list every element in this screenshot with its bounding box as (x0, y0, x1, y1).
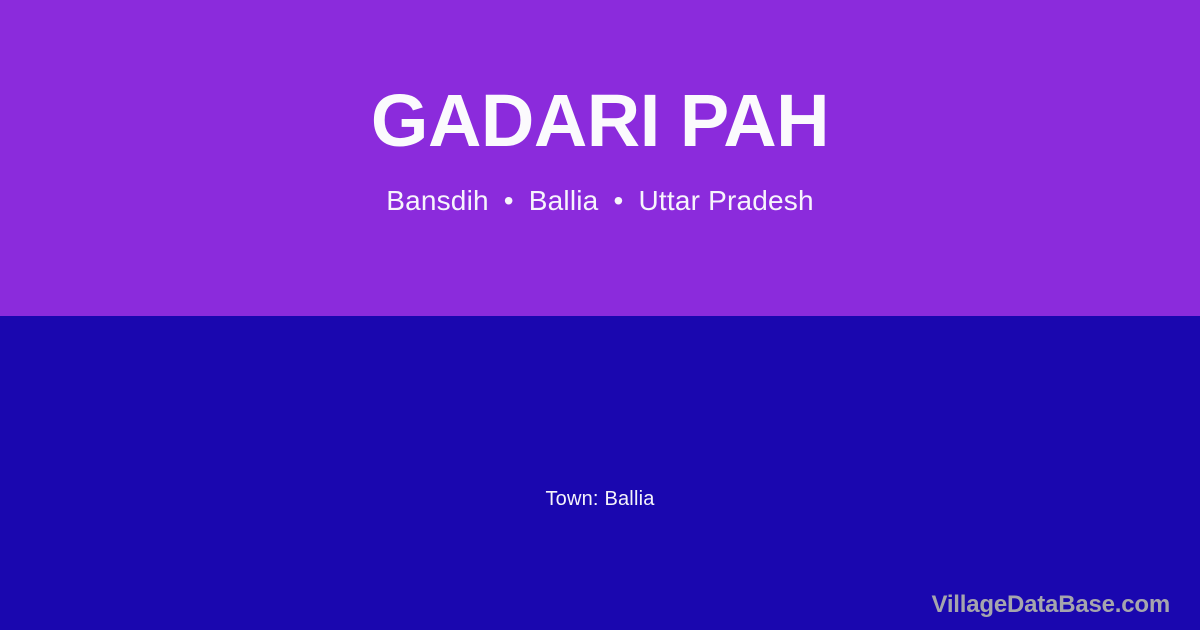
page-title: GADARI PAH (371, 84, 829, 158)
breadcrumb: Bansdih • Ballia • Uttar Pradesh (386, 184, 814, 218)
breadcrumb-block: Bansdih (386, 185, 489, 216)
card-body: Town: Ballia (0, 316, 1200, 630)
detail-town: Town: Ballia (0, 486, 1200, 512)
breadcrumb-state: Uttar Pradesh (638, 185, 813, 216)
breadcrumb-separator-icon: • (497, 184, 521, 218)
breadcrumb-separator-icon: • (606, 184, 630, 218)
card-header: GADARI PAH Bansdih • Ballia • Uttar Prad… (0, 0, 1200, 316)
breadcrumb-district: Ballia (529, 185, 599, 216)
site-watermark: VillageDataBase.com (931, 592, 1170, 618)
village-info-card: GADARI PAH Bansdih • Ballia • Uttar Prad… (0, 0, 1200, 630)
